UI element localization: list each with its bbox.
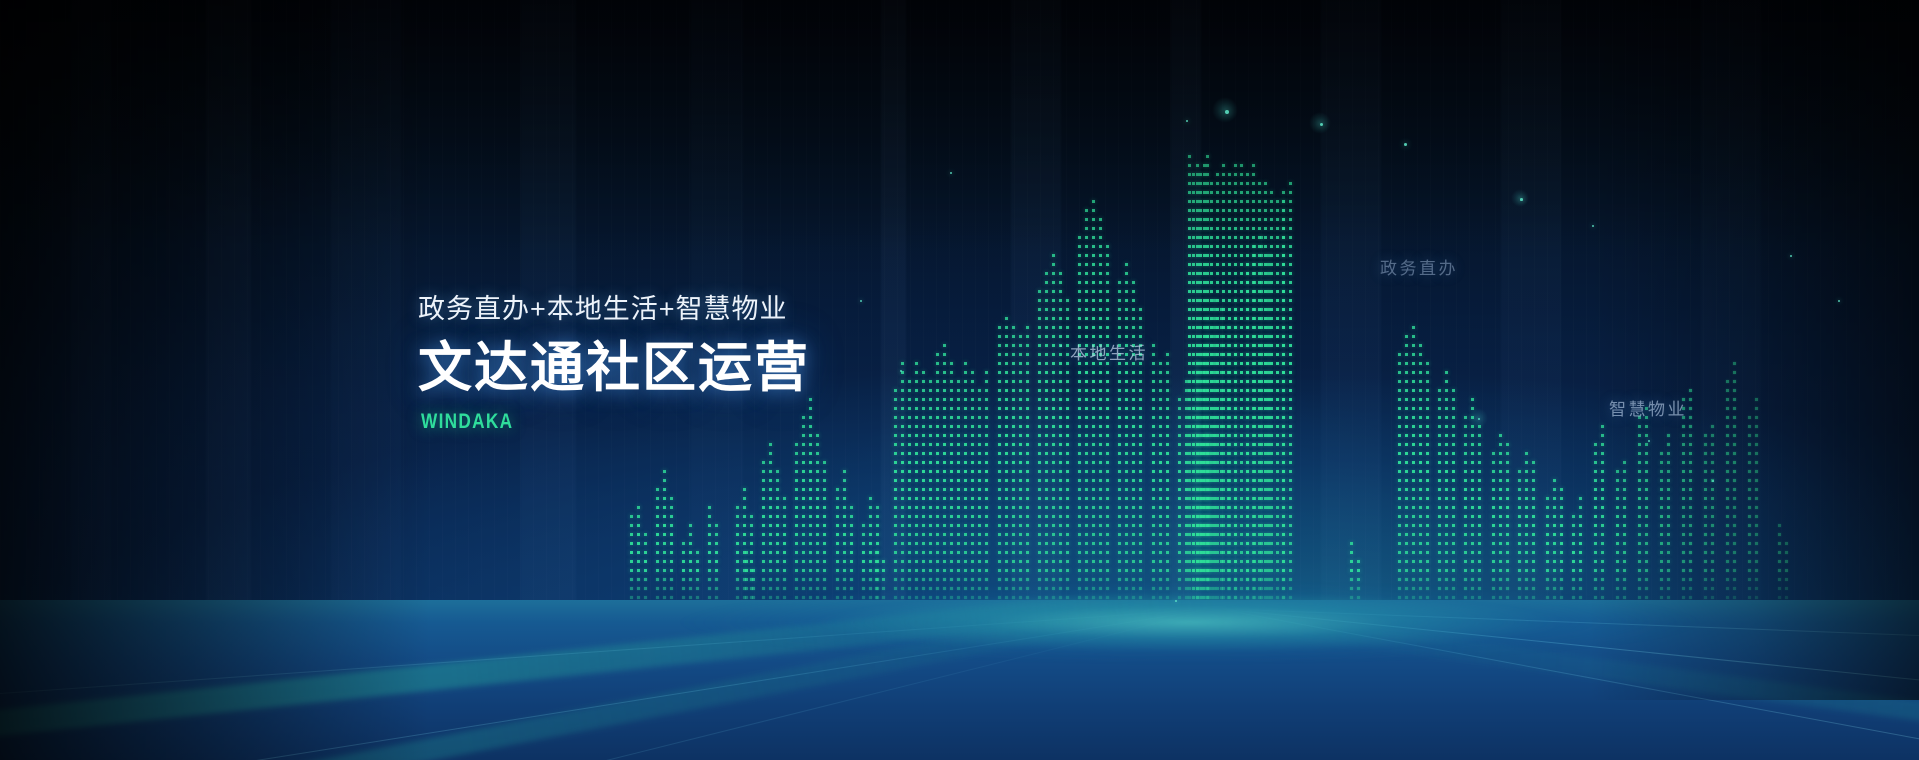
- particle-dot: [1060, 345, 1062, 347]
- city-label-zhihui: 智慧物业: [1609, 395, 1687, 420]
- particle-dot: [950, 172, 952, 174]
- particle-dot: [1648, 440, 1650, 442]
- particle-dot: [900, 370, 902, 372]
- banner-title: 文达通社区运营: [418, 340, 810, 397]
- city-label-zhengwu: 政务直办: [1380, 254, 1458, 279]
- particle-dot: [1404, 143, 1407, 146]
- banner-subtitle: 政务直办+本地生活+智慧物业: [418, 296, 810, 323]
- particle-dot: [1790, 255, 1792, 257]
- floating-particles: [0, 0, 1919, 760]
- particle-dot: [1225, 110, 1229, 114]
- particle-dot: [1592, 225, 1594, 227]
- particle-dot: [1175, 600, 1177, 602]
- hero-banner: 政务直办 本地生活 智慧物业 政务直办+本地生活+智慧物业 文达通社区运营 WI…: [0, 0, 1919, 760]
- particle-dot: [1838, 300, 1840, 302]
- city-label-bendi: 本地生活: [1070, 339, 1148, 364]
- particle-dot: [1186, 120, 1188, 122]
- particle-dot: [1520, 198, 1523, 201]
- particle-dot: [1712, 480, 1714, 482]
- headline-block: 政务直办+本地生活+智慧物业 文达通社区运营 WINDAKA: [418, 296, 810, 434]
- particle-dot: [860, 300, 862, 302]
- brand-wordmark: WINDAKA: [421, 410, 740, 434]
